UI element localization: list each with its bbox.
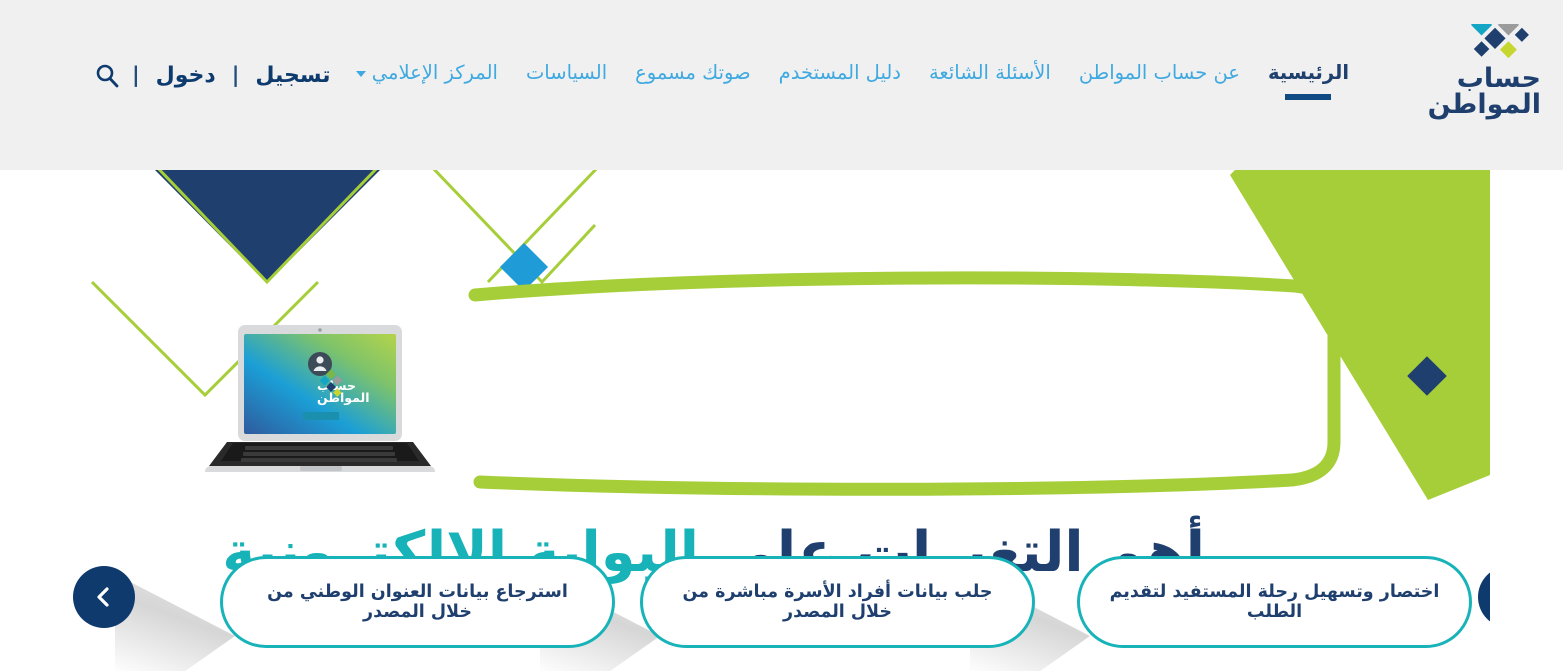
site-header: حساب المواطن الرئيسية عن حساب المواطن ال… <box>0 0 1563 170</box>
hero-banner: حساب المواطن أهم التغيرات على البوابة ال… <box>20 170 1490 671</box>
nav-item-your-voice[interactable]: صوتك مسموع <box>621 56 765 102</box>
nav-item-about[interactable]: عن حساب المواطن <box>1065 56 1254 102</box>
carousel-prev-button[interactable] <box>73 566 135 628</box>
green-bracket-decor <box>475 278 1334 489</box>
nav-item-home[interactable]: الرئيسية <box>1254 56 1363 102</box>
auth-separator-1: | <box>232 63 240 87</box>
search-icon <box>94 62 120 88</box>
login-link[interactable]: دخول <box>140 61 232 90</box>
green-wedge-decor <box>1230 170 1490 500</box>
nav-item-user-guide-label: دليل المستخدم <box>779 61 901 84</box>
site-logo[interactable]: حساب المواطن <box>1401 24 1541 128</box>
laptop-illustration: حساب المواطن <box>205 322 435 482</box>
svg-text:المواطن: المواطن <box>317 390 370 405</box>
navy-triangle-decor <box>155 170 380 283</box>
main-navigation: الرئيسية عن حساب المواطن الأسئلة الشائعة… <box>342 56 1363 102</box>
blue-diamond-decor <box>500 243 548 291</box>
carousel-next-button[interactable] <box>1478 566 1490 628</box>
feature-card-1-text: اختصار وتسهيل رحلة المستفيد لتقديم الطلب <box>1106 582 1443 622</box>
chevron-left-icon <box>92 585 116 609</box>
feature-card-3-text: استرجاع بيانات العنوان الوطني من خلال ال… <box>249 582 586 622</box>
feature-card-1[interactable]: اختصار وتسهيل رحلة المستفيد لتقديم الطلب <box>1077 556 1472 648</box>
nav-item-policies-label: السياسات <box>526 61 607 84</box>
search-button[interactable] <box>92 60 122 90</box>
chevron-down-icon <box>356 71 366 77</box>
nav-item-faq[interactable]: الأسئلة الشائعة <box>915 56 1065 102</box>
nav-item-home-label: الرئيسية <box>1268 61 1349 84</box>
auth-separator-2: | <box>132 63 140 87</box>
auth-area: تسجيل | دخول | <box>92 60 347 90</box>
nav-item-policies[interactable]: السياسات <box>512 56 621 102</box>
brand-name: حساب المواطن <box>1413 66 1541 119</box>
brand-name-line2: المواطن <box>1413 92 1541 118</box>
navy-diamond-decor <box>1407 356 1447 396</box>
nav-item-faq-label: الأسئلة الشائعة <box>929 61 1051 84</box>
nav-item-media-center-label: المركز الإعلامي <box>372 61 498 84</box>
nav-item-about-label: عن حساب المواطن <box>1079 61 1240 84</box>
feature-card-2[interactable]: جلب بيانات أفراد الأسرة مباشرة من خلال ا… <box>640 556 1035 648</box>
feature-card-3[interactable]: استرجاع بيانات العنوان الوطني من خلال ال… <box>220 556 615 648</box>
feature-cards-carousel: اختصار وتسهيل رحلة المستفيد لتقديم الطلب… <box>20 556 1490 671</box>
nav-item-media-center[interactable]: المركز الإعلامي <box>342 56 512 102</box>
register-link[interactable]: تسجيل <box>239 61 346 90</box>
nav-item-your-voice-label: صوتك مسموع <box>635 61 751 84</box>
nav-item-user-guide[interactable]: دليل المستخدم <box>765 56 915 102</box>
feature-card-2-text: جلب بيانات أفراد الأسرة مباشرة من خلال ا… <box>669 582 1006 622</box>
